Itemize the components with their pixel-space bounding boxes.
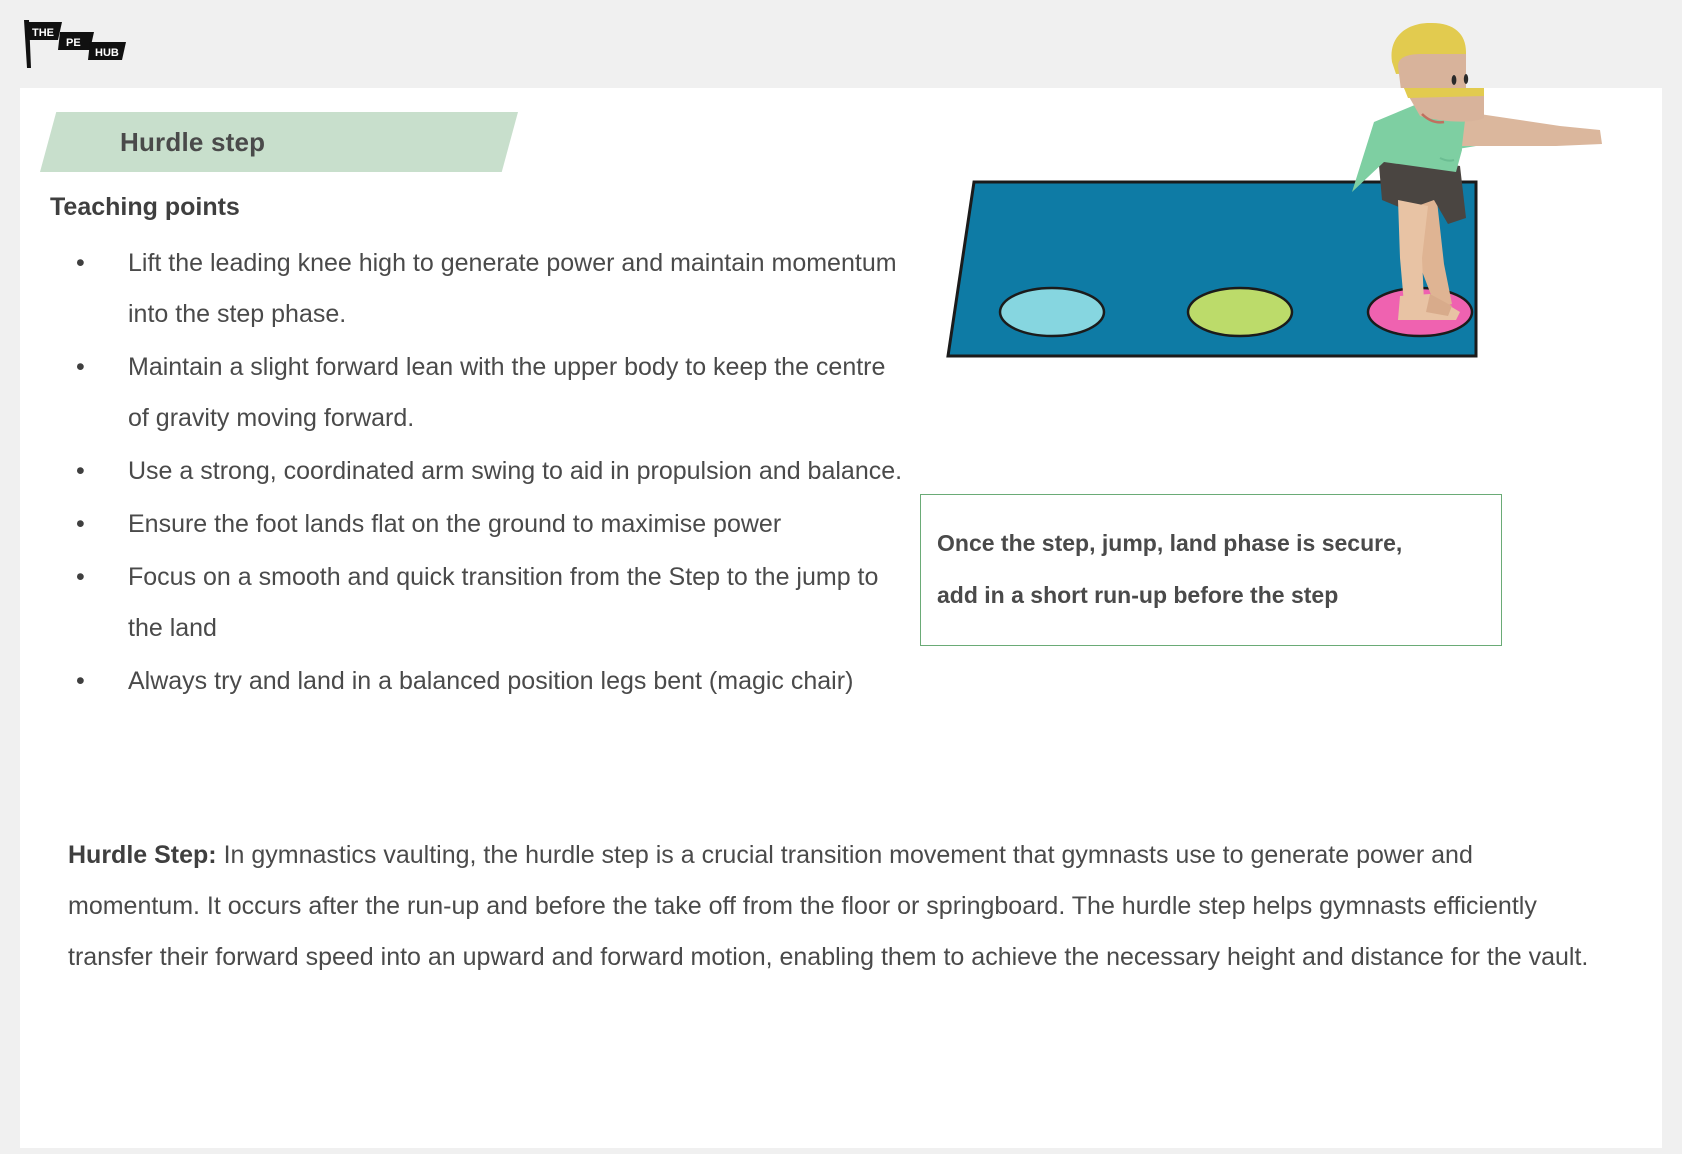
spot-land-label: Land <box>1391 355 1448 382</box>
list-item-text: Always try and land in a balanced positi… <box>128 667 853 695</box>
list-item: • Use a strong, coordinated arm swing to… <box>50 446 910 497</box>
bullet-icon: • <box>76 342 85 393</box>
list-item-text: Lift the leading knee high to generate p… <box>128 249 897 328</box>
description-paragraph: Hurdle Step: In gymnastics vaulting, the… <box>68 830 1610 983</box>
list-item: • Ensure the foot lands flat on the grou… <box>50 499 910 550</box>
teaching-points-heading: Teaching points <box>50 193 910 222</box>
logo-text-the: THE <box>32 27 54 39</box>
teaching-points-section: Teaching points • Lift the leading knee … <box>50 193 910 709</box>
bullet-icon: • <box>76 499 85 550</box>
bullet-icon: • <box>76 238 85 289</box>
hurdle-step-illustration: Step (1 foot) Jump (2 feet) Land (2 feet… <box>900 88 1662 458</box>
list-item-text: Ensure the foot lands flat on the ground… <box>128 510 781 538</box>
list-item: • Maintain a slight forward lean with th… <box>50 342 910 444</box>
description-lead: Hurdle Step: <box>68 841 217 869</box>
list-item: • Always try and land in a balanced posi… <box>50 656 910 707</box>
page-root: THE PE HUB Hurdle step <box>0 0 1682 1154</box>
logo-text-pe: PE <box>66 37 81 49</box>
list-item: • Focus on a smooth and quick transition… <box>50 552 910 654</box>
content-card: Hurdle step Teaching points • Lift the l… <box>20 88 1662 1148</box>
bullet-icon: • <box>76 552 85 603</box>
gymnast-figure-overflow <box>1370 18 1682 98</box>
list-item-text: Focus on a smooth and quick transition f… <box>128 563 878 642</box>
bullet-icon: • <box>76 446 85 497</box>
spot-jump-sublabel: (2 feet) <box>1201 384 1280 411</box>
the-pe-hub-logo: THE PE HUB <box>18 18 128 70</box>
spot-land-sublabel: (2 feet) <box>1381 384 1460 411</box>
logo-flag-icon: THE PE HUB <box>18 18 128 70</box>
tip-callout-box: Once the step, jump, land phase is secur… <box>920 494 1502 646</box>
description-body: In gymnastics vaulting, the hurdle step … <box>68 841 1588 971</box>
spot-step-sublabel: (1 foot) <box>1011 384 1092 411</box>
spot-step-label: Step <box>1026 355 1078 382</box>
mat-diagram-svg: Step (1 foot) Jump (2 feet) Land (2 feet… <box>900 88 1662 460</box>
list-item: • Lift the leading knee high to generate… <box>50 238 910 340</box>
teaching-points-list: • Lift the leading knee high to generate… <box>50 238 910 707</box>
tip-line-2: add in a short run-up before the step <box>937 569 1479 621</box>
page-title: Hurdle step <box>120 127 265 158</box>
bullet-icon: • <box>76 656 85 707</box>
spot-step <box>1000 288 1104 336</box>
spot-jump-label: Jump <box>1208 355 1272 382</box>
list-item-text: Maintain a slight forward lean with the … <box>128 353 885 432</box>
logo-text-hub: HUB <box>95 47 119 59</box>
list-item-text: Use a strong, coordinated arm swing to a… <box>128 457 902 485</box>
spot-jump <box>1188 288 1292 336</box>
tip-line-1: Once the step, jump, land phase is secur… <box>937 517 1479 569</box>
gymnast-figure-top-svg <box>1370 18 1682 98</box>
section-title-banner: Hurdle step <box>40 112 518 172</box>
